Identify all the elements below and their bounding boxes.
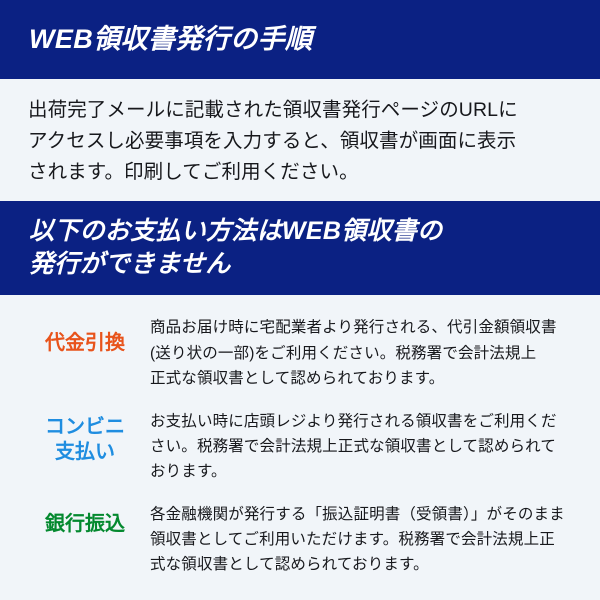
payment-method-label-line: 支払い (26, 440, 144, 466)
notice-title-line: 発行ができません (29, 248, 442, 282)
description-line: 正式な領収書として認められております。 (150, 366, 582, 391)
notice-title: 以下のお支払い方法はWEB領収書の 発行ができません (29, 215, 442, 282)
description-line: おります。 (150, 459, 582, 484)
description-line: 式な領収書として認められております。 (150, 552, 582, 577)
page-header-band: WEB領収書発行の手順 (0, 0, 600, 79)
intro-line: アクセスし必要事項を入力すると、領収書が画面に表示 (28, 126, 578, 157)
payment-method-label-line: 銀行振込 (26, 512, 144, 538)
description-line: さい。税務署で会計法規上正式な領収書として認められて (150, 434, 582, 459)
payment-method-row: 銀行振込 各金融機関が発行する「振込証明書（受領書）」がそのまま 領収書としてご… (0, 496, 600, 577)
payment-method-label-line: コンビニ (26, 415, 144, 441)
payment-method-row: コンビニ 支払い お支払い時に店頭レジより発行される領収書をご利用くだ さい。税… (0, 403, 600, 484)
notice-title-line: 以下のお支払い方法はWEB領収書の (29, 215, 442, 249)
description-line: 商品お届け時に宅配業者より発行される、代引金額領収書 (150, 315, 582, 340)
page-title: WEB領収書発行の手順 (29, 26, 312, 53)
payment-method-row: 代金引換 商品お届け時に宅配業者より発行される、代引金額領収書 (送り状の一部)… (0, 309, 600, 390)
description-line: 領収書としてご利用いただけます。税務署で会計法規上正 (150, 527, 582, 552)
intro-line: されます。印刷してご利用ください。 (28, 157, 578, 188)
description-line: 各金融機関が発行する「振込証明書（受領書）」がそのまま (150, 502, 582, 527)
description-line: (送り状の一部)をご利用ください。税務署で会計法規上 (150, 341, 582, 366)
notice-header-band: 以下のお支払い方法はWEB領収書の 発行ができません (0, 201, 600, 295)
intro-paragraph: 出荷完了メールに記載された領収書発行ページのURLに アクセスし必要事項を入力す… (0, 79, 600, 187)
intro-line: 出荷完了メールに記載された領収書発行ページのURLに (28, 95, 578, 126)
payment-method-label-bank-transfer: 銀行振込 (26, 496, 144, 538)
payment-method-description: 各金融機関が発行する「振込証明書（受領書）」がそのまま 領収書としてご利用いただ… (150, 496, 582, 577)
payment-method-list: 代金引換 商品お届け時に宅配業者より発行される、代引金額領収書 (送り状の一部)… (0, 295, 600, 577)
description-line: お支払い時に店頭レジより発行される領収書をご利用くだ (150, 409, 582, 434)
payment-method-label-convenience-store: コンビニ 支払い (26, 403, 144, 466)
payment-method-label-cod: 代金引換 (26, 309, 144, 357)
payment-method-description: お支払い時に店頭レジより発行される領収書をご利用くだ さい。税務署で会計法規上正… (150, 403, 582, 484)
receipt-info-page: WEB領収書発行の手順 出荷完了メールに記載された領収書発行ページのURLに ア… (0, 0, 600, 600)
payment-method-description: 商品お届け時に宅配業者より発行される、代引金額領収書 (送り状の一部)をご利用く… (150, 309, 582, 390)
payment-method-label-line: 代金引換 (26, 331, 144, 357)
